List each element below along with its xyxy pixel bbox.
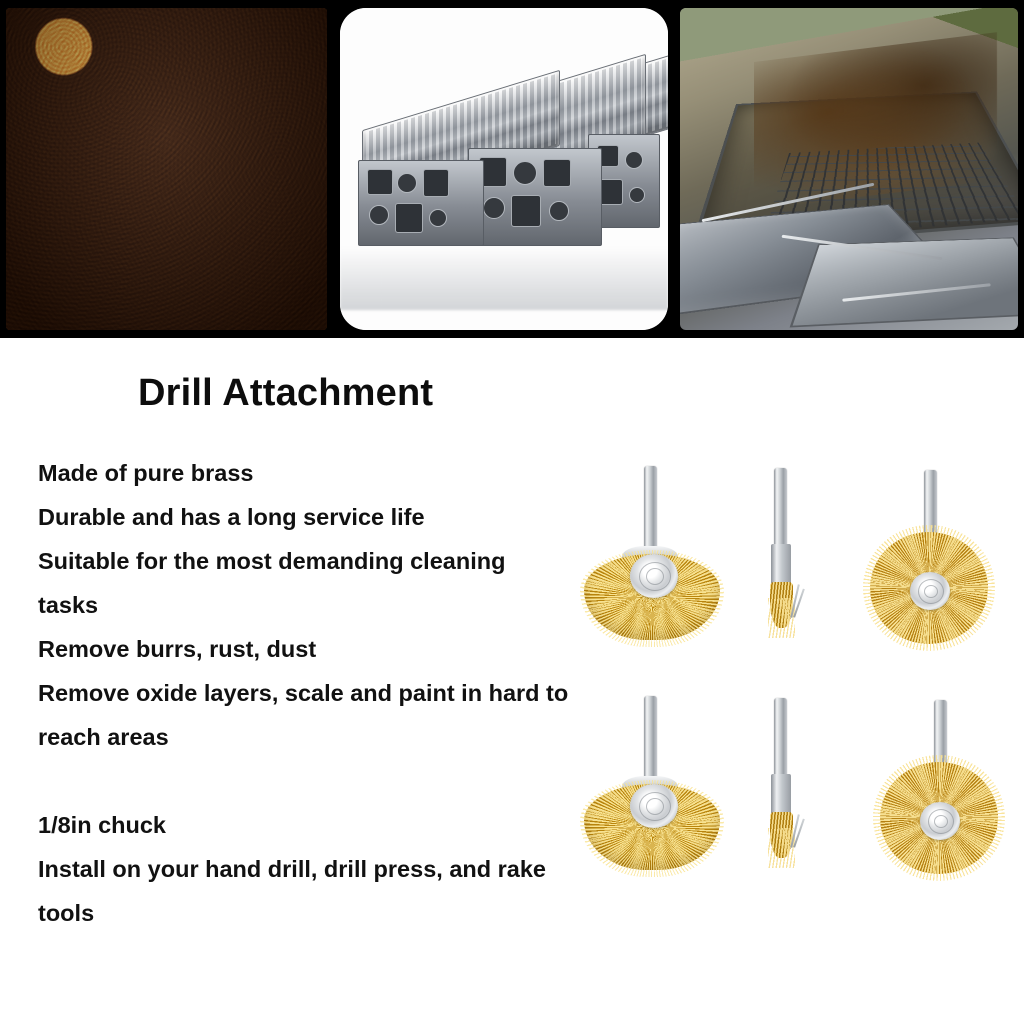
feature-line: Suitable for the most demanding cleaning <box>38 539 618 583</box>
brush-shank <box>644 466 657 550</box>
feature-line: tasks <box>38 583 618 627</box>
aluminium-reflection <box>340 236 668 310</box>
extrusion-cross-section-middle <box>468 148 602 246</box>
feature-line: Durable and has a long service life <box>38 495 618 539</box>
extrusion-slot <box>543 159 571 187</box>
feature-line: tools <box>38 891 618 935</box>
feature-line: Install on your hand drill, drill press,… <box>38 847 618 891</box>
brush-hub-ring <box>646 568 664 585</box>
feature-line: Made of pure brass <box>38 451 618 495</box>
brush-hub-ring <box>646 798 664 815</box>
extrusion-cross-section-front <box>358 160 484 246</box>
feature-line: 1/8in chuck <box>38 803 618 847</box>
grill-side-panel-right <box>790 237 1018 327</box>
cup-wire-brush-bottom <box>584 696 724 896</box>
stacked-logs-photo <box>6 8 327 330</box>
end-wire-brush-top <box>756 468 816 648</box>
aluminium-extrusion-photo <box>340 8 668 330</box>
extrusion-bore <box>429 209 447 227</box>
extrusion-bore <box>513 161 537 185</box>
feature-line: Remove oxide layers, scale and paint in … <box>38 671 618 715</box>
wheel-wire-brush-bottom <box>876 700 1006 890</box>
wheel-wire-brush-top <box>866 470 996 660</box>
extrusion-bore <box>397 173 417 193</box>
extrusion-slot <box>395 203 423 233</box>
end-wire-brush-bottom <box>756 698 816 878</box>
logs-photo-vignette <box>6 8 327 330</box>
extrusion-slot <box>367 169 393 195</box>
extrusion-bore <box>549 201 569 221</box>
brush-hub-ring <box>934 815 948 828</box>
extrusion-slot <box>599 179 623 205</box>
extrusion-bore <box>625 151 643 169</box>
brass-bristles <box>770 812 793 858</box>
product-image-group <box>560 448 1024 918</box>
extrusion-slot <box>511 195 541 227</box>
page-title: Drill Attachment <box>138 372 433 415</box>
extrusion-bore <box>483 197 505 219</box>
cup-wire-brush-top <box>584 466 724 666</box>
extrusion-slot <box>423 169 449 197</box>
rusty-bbq-grill-photo <box>680 8 1018 330</box>
brush-shank <box>774 698 787 778</box>
feature-line: reach areas <box>38 715 618 759</box>
brush-shank <box>774 468 787 548</box>
extrusion-bore <box>369 205 389 225</box>
brush-shank <box>644 696 657 780</box>
brush-hub-ring <box>924 585 938 598</box>
aluminium-profiles-group <box>340 48 668 238</box>
feature-line: Remove burrs, rust, dust <box>38 627 618 671</box>
extrusion-bore <box>629 187 645 203</box>
hero-photo-strip <box>0 0 1024 338</box>
brass-bristles <box>770 582 793 628</box>
feature-list: Made of pure brass Durable and has a lon… <box>38 451 618 935</box>
